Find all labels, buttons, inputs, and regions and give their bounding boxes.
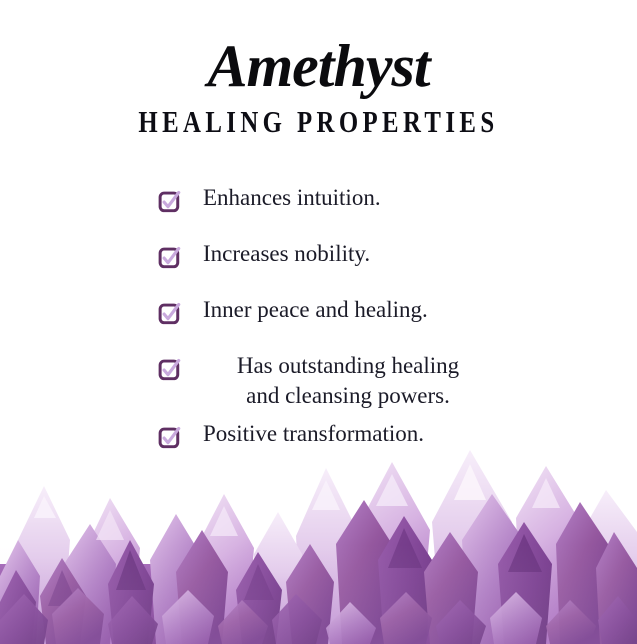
amethyst-healing-properties-poster: Amethyst HEALING PROPERTIES Enhances int… [0, 0, 637, 644]
checked-checkbox-icon [158, 190, 181, 213]
list-item-label-multiline: Has outstanding healing and cleansing po… [200, 348, 496, 411]
checked-checkbox-icon [158, 302, 181, 325]
list-item-label-line1: Has outstanding healing [237, 353, 459, 378]
list-item: Increases nobility. [0, 236, 637, 292]
list-item: Has outstanding healing and cleansing po… [0, 348, 637, 416]
checked-checkbox-icon [158, 246, 181, 269]
crystal-artwork-svg [0, 444, 637, 644]
page-subtitle: HEALING PROPERTIES [64, 106, 574, 137]
checked-checkbox-icon [158, 358, 181, 381]
list-item: Enhances intuition. [0, 180, 637, 236]
list-item-label: Inner peace and healing. [203, 292, 637, 325]
list-item: Inner peace and healing. [0, 292, 637, 348]
list-item-label-line2: and cleansing powers. [200, 381, 496, 411]
healing-properties-list: Enhances intuition. Increases nobility. … [0, 180, 637, 472]
list-item-label: Increases nobility. [203, 236, 637, 269]
list-item-label: Enhances intuition. [203, 180, 637, 213]
poster-header: Amethyst HEALING PROPERTIES [0, 0, 637, 137]
page-title: Amethyst [0, 36, 637, 96]
amethyst-crystal-cluster-image [0, 444, 637, 644]
